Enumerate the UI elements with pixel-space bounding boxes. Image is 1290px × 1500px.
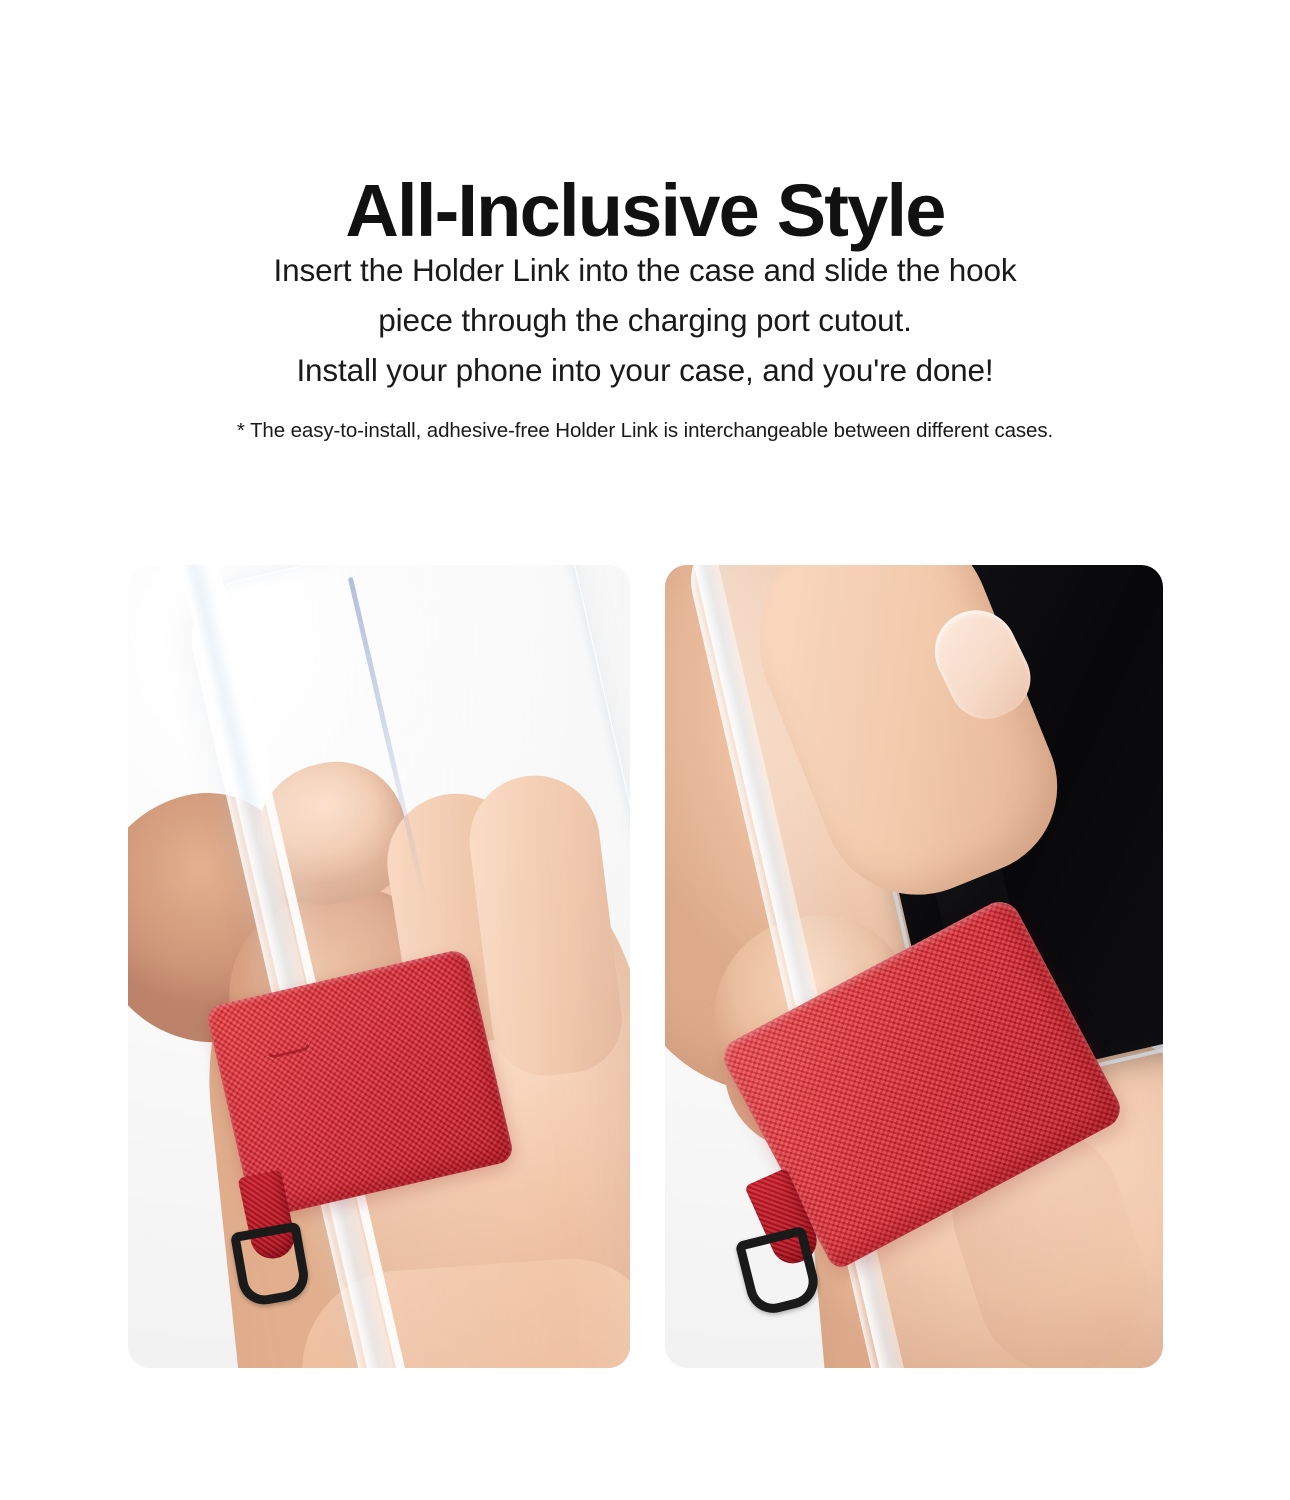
photo-left: [128, 565, 630, 1368]
footnote-text: * The easy-to-install, adhesive-free Hol…: [95, 416, 1195, 446]
page-title: All-Inclusive Style: [0, 168, 1290, 254]
description-text: Insert the Holder Link into the case and…: [145, 245, 1145, 395]
product-image-step-1: [128, 565, 630, 1368]
photo-right: [665, 565, 1163, 1368]
description-line-2: piece through the charging port cutout.: [145, 295, 1145, 345]
description-line-3: Install your phone into your case, and y…: [145, 345, 1145, 395]
product-image-step-2: [665, 565, 1163, 1368]
product-image-gallery: [128, 565, 1163, 1368]
description-line-1: Insert the Holder Link into the case and…: [145, 245, 1145, 295]
